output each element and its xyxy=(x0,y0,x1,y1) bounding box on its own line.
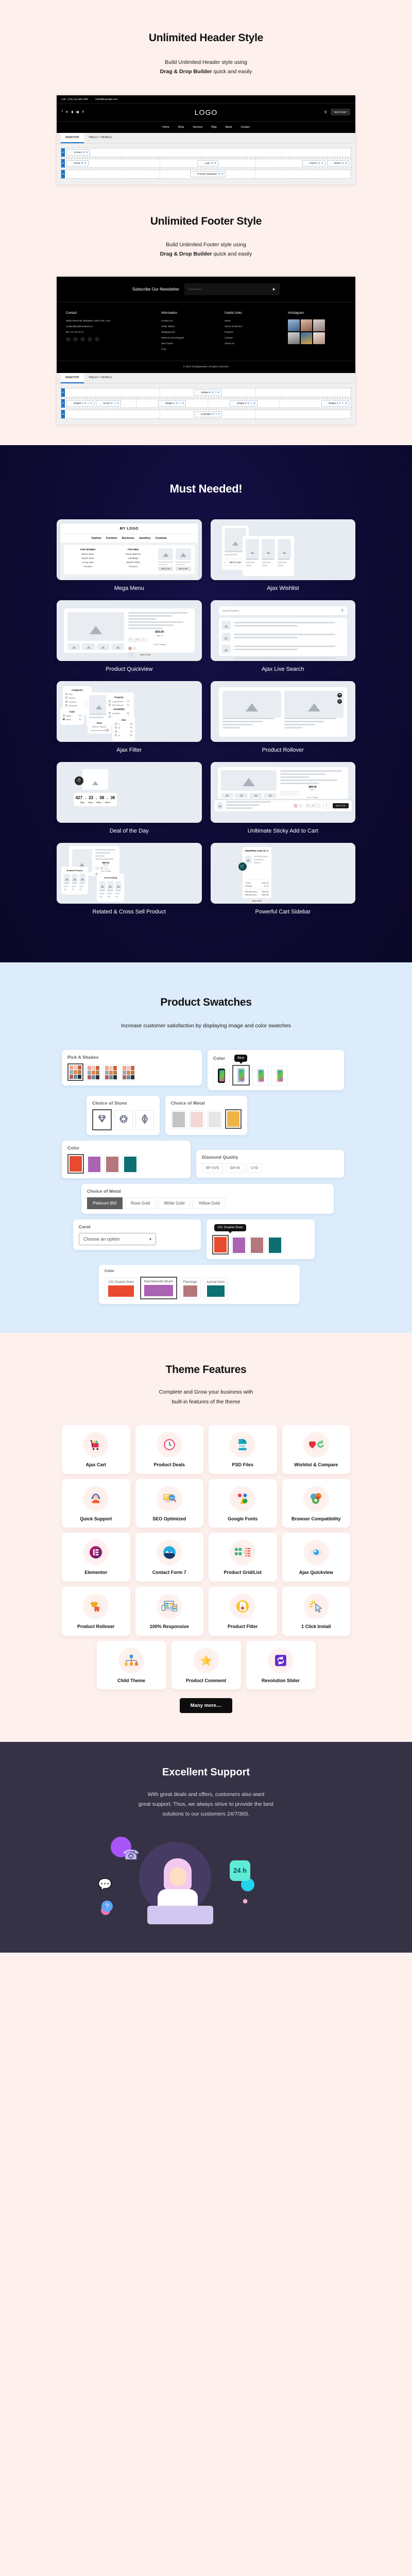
carat-select[interactable]: Choose an option ▾ xyxy=(79,1233,156,1245)
nav-item[interactable]: Services xyxy=(193,126,202,129)
filter-option[interactable]: L(2) xyxy=(115,731,132,733)
mega-nav-item[interactable]: Electronic xyxy=(122,537,134,540)
nav-item[interactable]: Home xyxy=(162,126,169,129)
mega-col-item[interactable]: Handbags xyxy=(113,557,153,560)
checkbox-icon[interactable] xyxy=(109,716,111,718)
metal-swatch[interactable] xyxy=(189,1110,204,1129)
search-input[interactable]: Search Products...⚲ xyxy=(219,606,348,615)
builder-cell[interactable] xyxy=(65,388,160,397)
must-needed-label: Product Rollover xyxy=(211,747,356,753)
close-icon[interactable]: ✕ xyxy=(253,402,255,405)
builder-cell[interactable] xyxy=(65,410,160,418)
checkbox-icon[interactable] xyxy=(63,715,65,717)
checkbox-icon[interactable] xyxy=(65,704,67,706)
header-builder-tabs[interactable]: DESKTOP TABLET / MOBILE xyxy=(57,133,355,144)
size-option[interactable]: M xyxy=(100,867,105,870)
size-option[interactable]: L xyxy=(316,804,320,808)
named-color-swatch[interactable]: 101 Scarlet Siren xyxy=(105,1278,138,1299)
stone-swatch-diamond[interactable] xyxy=(92,1109,112,1130)
theme-feature-card[interactable]: Ajax Quickview xyxy=(282,1533,351,1582)
nav-item[interactable]: Shop xyxy=(178,126,184,129)
footer-col-item[interactable]: Projects xyxy=(225,331,283,333)
footer-col-item[interactable]: Size Guide xyxy=(161,342,219,345)
mega-col-item[interactable]: Shirts/T-shirts xyxy=(113,561,153,564)
row-settings-handle[interactable]: ⚙ xyxy=(61,159,65,167)
builder-cell[interactable]: ⋮⋮Social⚙✕ xyxy=(65,159,160,167)
filter-option[interactable]: Women(5) xyxy=(65,697,89,699)
footer-col-item[interactable]: Returns & Exchanges xyxy=(161,336,219,339)
thumb[interactable] xyxy=(111,643,124,650)
drag-handle-icon[interactable]: ⋮⋮ xyxy=(98,402,102,405)
size-option[interactable]: S xyxy=(95,867,99,870)
gear-icon[interactable]: ⚙ xyxy=(211,162,213,165)
filter-option[interactable]: Electronic(16) xyxy=(65,704,89,707)
theme-feature-card[interactable]: Elementor xyxy=(62,1533,130,1582)
tooltip-color-swatch[interactable] xyxy=(267,1236,283,1255)
theme-feature-card[interactable]: PSDPSD Files xyxy=(209,1425,277,1474)
tooltip-color-swatch[interactable] xyxy=(249,1236,265,1255)
filter-option[interactable]: Men(1) xyxy=(65,693,89,696)
duplicate-icon[interactable]: ☐ xyxy=(87,402,89,405)
builder-cell[interactable]: ⋮⋮Copyright⚙☐✕ xyxy=(160,410,255,418)
close-icon[interactable]: X xyxy=(267,850,269,852)
diamond-quality-option[interactable]: EF-VVS xyxy=(202,1163,223,1173)
gear-icon[interactable]: ⚙ xyxy=(339,402,341,405)
choice-stone-options[interactable] xyxy=(92,1109,154,1130)
builder-chip[interactable]: ⋮⋮Search⚙✕ xyxy=(302,160,325,166)
size-option[interactable]: S xyxy=(280,791,285,795)
checkbox-icon[interactable] xyxy=(65,697,67,699)
close-icon[interactable]: ✕ xyxy=(321,162,323,165)
builder-cell[interactable] xyxy=(256,410,351,418)
sticky-add-to-cart-bar[interactable]: SML1Add To Cart xyxy=(214,800,352,811)
builder-chip[interactable]: ⋮⋮Button⚙✕ xyxy=(327,160,349,166)
builder-cell[interactable]: ⋮⋮Contact⚙✕ xyxy=(65,148,351,157)
instagram-photo[interactable] xyxy=(313,319,325,331)
shade-swatch[interactable] xyxy=(121,1064,136,1081)
footer-col-item[interactable]: Contact us xyxy=(161,319,219,322)
phone-swatch[interactable] xyxy=(271,1066,288,1086)
duplicate-icon[interactable]: ☐ xyxy=(179,402,181,405)
row-settings-handle[interactable]: ⚙ xyxy=(61,399,65,408)
metal-pill-option[interactable]: White Gold xyxy=(159,1197,191,1209)
placeholder-line xyxy=(64,889,66,890)
footer-builder-mock: Subscribe Our Newsletter Enter Email....… xyxy=(57,277,355,425)
clock-icon xyxy=(157,1432,182,1458)
need-help-button[interactable]: Need Help? xyxy=(331,109,350,115)
mega-add-to-cart[interactable]: Add To Cart xyxy=(158,567,173,571)
color-swatch[interactable] xyxy=(105,1155,120,1174)
drag-handle-icon[interactable]: ⋮⋮ xyxy=(192,173,196,176)
gear-icon[interactable]: ⚙ xyxy=(218,173,220,176)
quickview-icon[interactable]: ◎ xyxy=(337,699,342,704)
filter-option[interactable]: S(2) xyxy=(115,723,132,725)
quickview-price: $59.00 xyxy=(128,631,191,634)
must-needed-item: ⏱427.23.58.36DayHourMinuSecoDeal of the … xyxy=(57,762,202,834)
tooltip-swatch-options[interactable] xyxy=(212,1235,309,1255)
gear-icon[interactable]: ⚙ xyxy=(111,402,113,405)
builder-chip[interactable]: ⋮⋮Primary Navigation⚙✕ xyxy=(190,171,226,177)
pick-shades-options[interactable] xyxy=(67,1063,196,1081)
gear-icon[interactable]: ⚙ xyxy=(176,402,178,405)
pick-shades-heading: Pick A Shades xyxy=(67,1055,196,1060)
contact-form-7-icon xyxy=(157,1539,182,1565)
close-icon[interactable]: ✕ xyxy=(218,413,220,416)
instagram-photo[interactable] xyxy=(288,319,300,331)
close-icon[interactable]: ✕ xyxy=(221,173,224,176)
builder-chip[interactable]: ⋮⋮Contact⚙✕ xyxy=(66,149,90,156)
color-phone-options[interactable] xyxy=(213,1065,338,1086)
builder-chip[interactable]: ⋮⋮Widget 2⚙☐✕ xyxy=(158,400,186,406)
builder-chip[interactable]: ⋮⋮Social⚙☐✕ xyxy=(96,400,121,406)
metal-swatch[interactable] xyxy=(171,1110,186,1129)
twitter-icon[interactable] xyxy=(80,337,85,342)
close-icon[interactable]: ✕ xyxy=(218,391,220,394)
drag-handle-icon[interactable]: ⋮⋮ xyxy=(232,402,236,405)
headset-agent-icon xyxy=(83,1486,109,1512)
duplicate-icon[interactable]: ☐ xyxy=(215,391,217,394)
mega-col-item[interactable]: Loung wear xyxy=(67,561,108,564)
builder-chip[interactable]: ⋮⋮Logo⚙✕ xyxy=(197,160,218,166)
builder-cell[interactable]: ⋮⋮Logo⚙✕ xyxy=(160,159,255,167)
filter-option[interactable]: XL(2) xyxy=(115,734,132,737)
size-option[interactable]: L xyxy=(293,791,298,795)
linkedin-icon[interactable] xyxy=(95,337,99,342)
tab-tablet-mobile[interactable]: TABLET / MOBILE xyxy=(84,133,117,143)
mega-nav-item[interactable]: Furniture xyxy=(106,537,117,540)
search-result-row[interactable] xyxy=(222,645,345,653)
footer-col-item[interactable]: Shipping Info xyxy=(161,331,219,333)
metal-pill-option[interactable]: Yellow Gold xyxy=(193,1197,226,1209)
builder-row: ⚙⋮⋮Social⚙✕⋮⋮Logo⚙✕⋮⋮Search⚙✕⋮⋮Button⚙✕ xyxy=(61,159,351,168)
color-swatch[interactable] xyxy=(87,1155,102,1174)
footer-social-icons[interactable] xyxy=(66,337,156,342)
price-slider[interactable] xyxy=(90,730,109,731)
revolution-slider-icon xyxy=(268,1648,294,1673)
filter-option[interactable]: Long sleeves(1) xyxy=(109,700,129,703)
builder-chip-label: Primary Navigation xyxy=(197,173,217,175)
thumb[interactable] xyxy=(67,643,80,650)
diamond-quality-option[interactable]: IJ-SI xyxy=(247,1163,262,1173)
placeholder-line xyxy=(128,612,187,614)
close-icon[interactable]: ✕ xyxy=(345,402,347,405)
builder-cell[interactable] xyxy=(256,170,351,178)
grid-list-icon: + xyxy=(230,1539,255,1565)
thumb[interactable] xyxy=(97,643,110,650)
footer-builder-tabs[interactable]: DESKTOP TABLET / MOBILE xyxy=(57,373,355,384)
search-result-row[interactable] xyxy=(222,633,345,641)
stone-swatch-octagon[interactable] xyxy=(114,1110,133,1130)
checkbox-icon[interactable] xyxy=(65,693,67,695)
choice-metal-sq-options[interactable] xyxy=(171,1109,242,1129)
placeholder-line xyxy=(72,883,77,884)
metal-pill-option[interactable]: Platinum 950 xyxy=(87,1197,123,1209)
checkbox-icon[interactable] xyxy=(109,704,111,706)
instagram-photo[interactable] xyxy=(288,332,300,344)
search-result-row[interactable] xyxy=(222,621,345,630)
header-social-icons[interactable]: f ➤ ▮ ▣ p xyxy=(62,110,144,114)
drag-handle-icon[interactable]: ⋮⋮ xyxy=(329,162,333,165)
theme-feature-card[interactable]: SEOSEO Optimized xyxy=(135,1479,204,1528)
filter-option[interactable]: White(1) xyxy=(63,715,81,717)
size-option[interactable]: L xyxy=(105,867,109,870)
theme-feature-card[interactable]: +Wishlist & Compare xyxy=(282,1425,351,1474)
duplicate-icon[interactable]: ☐ xyxy=(342,402,344,405)
seconds-value: 36 xyxy=(110,795,115,800)
close-icon[interactable]: ✕ xyxy=(86,151,88,154)
devices-icon xyxy=(157,1594,182,1619)
many-more-button[interactable]: Many more.... xyxy=(180,1698,233,1713)
filter-option[interactable]: Available(2) xyxy=(109,712,129,715)
size-option[interactable]: M xyxy=(135,638,141,642)
footer-col-item[interactable]: About Us xyxy=(225,342,283,345)
builder-cell[interactable] xyxy=(65,170,160,178)
phone-swatch[interactable] xyxy=(213,1066,230,1086)
cart-icon[interactable]: 🛒 xyxy=(238,862,247,871)
mega-nav-item[interactable]: Cosmetic xyxy=(155,537,167,540)
color-swatch[interactable] xyxy=(67,1154,84,1174)
color-sq-options[interactable] xyxy=(67,1154,185,1174)
drag-handle-icon[interactable]: ⋮⋮ xyxy=(196,391,200,394)
gear-icon[interactable]: ⚙ xyxy=(342,162,344,165)
tab-desktop[interactable]: DESKTOP xyxy=(61,133,84,143)
instagram-icon[interactable] xyxy=(73,337,78,342)
drag-handle-icon[interactable]: ⋮⋮ xyxy=(68,402,73,405)
filter-option[interactable]: Black(1) xyxy=(63,718,81,721)
mega-nav[interactable]: FashionFurnitureElectronicJewelleryCosme… xyxy=(60,534,198,543)
mega-nav-item[interactable]: Fashion xyxy=(92,537,101,540)
drag-handle-icon[interactable]: ⋮⋮ xyxy=(199,162,203,165)
filter-option[interactable]: M(2) xyxy=(115,726,132,729)
drag-handle-icon[interactable]: ⋮⋮ xyxy=(196,413,200,416)
must-needed-label: Deal of the Day xyxy=(57,828,202,834)
footer-col-item[interactable]: FAQ xyxy=(161,348,219,350)
placeholder-line xyxy=(72,886,76,887)
phone-icon: ☎ xyxy=(123,1847,139,1863)
tf-sub-line1: Complete and Grow your business with xyxy=(0,1387,412,1397)
choice-metal-pill-options[interactable]: Platinum 950Rose GoldWhite GoldYellow Go… xyxy=(87,1197,328,1209)
theme-feature-card[interactable]: Quick Support xyxy=(62,1479,130,1528)
metal-pill-option[interactable]: Rose Gold xyxy=(125,1197,156,1209)
size-option[interactable]: S xyxy=(128,638,133,642)
row-settings-handle[interactable]: ⚙ xyxy=(61,388,65,397)
gear-icon[interactable]: ⚙ xyxy=(247,402,249,405)
facebook-icon[interactable]: f xyxy=(62,110,63,114)
phone-swatch[interactable] xyxy=(252,1066,269,1086)
theme-feature-card[interactable]: Product Comment xyxy=(171,1641,241,1690)
footer-col-item[interactable]: License xyxy=(225,336,283,339)
theme-feature-card[interactable]: 100% Responsive xyxy=(135,1587,204,1636)
theme-feature-card[interactable]: Contact Form 7 xyxy=(135,1533,204,1582)
instagram-photo[interactable] xyxy=(301,332,313,344)
builder-chip[interactable]: ⋮⋮Widget 3⚙☐✕ xyxy=(230,400,257,406)
checkbox-icon[interactable] xyxy=(109,700,111,702)
checkbox-icon[interactable] xyxy=(115,734,117,736)
shade-swatch[interactable] xyxy=(86,1064,101,1081)
diamond-quality-option[interactable]: GH-SI xyxy=(226,1163,244,1173)
google-plus-icon[interactable] xyxy=(88,337,92,342)
twitter-icon[interactable]: ➤ xyxy=(66,110,68,114)
gear-icon[interactable]: ⚙ xyxy=(83,151,85,154)
close-icon[interactable]: ✕ xyxy=(117,402,119,405)
theme-feature-card[interactable]: Browser Compatibility xyxy=(282,1479,351,1528)
nav-item[interactable]: Blog xyxy=(211,126,216,129)
shade-swatch[interactable] xyxy=(104,1064,118,1081)
gear-icon[interactable]: ⚙ xyxy=(81,162,83,165)
filter-option[interactable]: Furniture(10) xyxy=(65,701,89,703)
tooltip-color-swatch[interactable] xyxy=(212,1235,229,1255)
row-settings-handle[interactable]: ⚙ xyxy=(61,148,65,157)
nav-item[interactable]: Contact xyxy=(241,126,250,129)
placeholder-line xyxy=(95,858,113,860)
theme-feature-card[interactable]: Product Deals xyxy=(135,1425,204,1474)
checkbox-icon[interactable] xyxy=(109,712,111,714)
tab-tablet-mobile[interactable]: TABLET / MOBILE xyxy=(84,373,117,383)
footer-col-item[interactable]: Order Status xyxy=(161,325,219,328)
theme-feature-label: Ajax Quickview xyxy=(299,1570,333,1576)
mega-col-item[interactable]: Sports Wear xyxy=(67,557,108,560)
add-to-cart-button[interactable]: Add To Cart xyxy=(136,652,154,657)
mega-col-item[interactable]: Trousers xyxy=(113,565,153,568)
gear-icon[interactable]: ⚙ xyxy=(84,402,86,405)
gear-icon[interactable]: ⚙ xyxy=(318,162,320,165)
metal-swatch[interactable] xyxy=(207,1110,222,1129)
mega-col-item[interactable]: Trousers xyxy=(67,565,108,568)
size-option[interactable]: L xyxy=(142,638,147,642)
mega-col-item[interactable]: Ethnic Wear xyxy=(67,553,108,555)
builder-chip[interactable]: ⋮⋮Widget 1⚙☐✕ xyxy=(66,400,94,406)
row-settings-handle[interactable]: ⚙ xyxy=(61,170,65,178)
related-color-label: Color: Orange xyxy=(95,870,116,872)
builder-chip[interactable]: ⋮⋮Widget 5⚙☐✕ xyxy=(194,389,221,396)
builder-chip-label: Contact xyxy=(74,151,82,154)
checkbox-icon[interactable] xyxy=(65,701,67,703)
seo-monitor-icon: SEO xyxy=(157,1486,182,1512)
duplicate-icon[interactable]: ☐ xyxy=(250,402,252,405)
instagram-photo[interactable] xyxy=(313,332,325,344)
quantity-stepper[interactable]: 1 xyxy=(323,803,330,808)
search-result-row[interactable] xyxy=(222,656,345,661)
builder-chip[interactable]: ⋮⋮Social⚙✕ xyxy=(66,160,89,166)
theme-feature-card[interactable]: Product Rollover xyxy=(62,1587,130,1636)
named-color-swatch[interactable]: Flamingo xyxy=(180,1278,201,1299)
placeholder-line xyxy=(262,562,271,563)
named-color-swatch[interactable]: Bachellorette Blush xyxy=(140,1277,177,1299)
pinterest-icon[interactable]: p xyxy=(82,110,84,114)
footer-column-useful-links: Useful Links News Terms of Service Proje… xyxy=(225,311,283,353)
drag-handle-icon[interactable]: ⋮⋮ xyxy=(323,402,328,405)
builder-cell[interactable]: ⋮⋮Widget 1⚙☐✕⋮⋮Social⚙☐✕ xyxy=(65,399,136,408)
checkbox-icon[interactable] xyxy=(63,718,65,720)
color-swatch[interactable] xyxy=(123,1155,138,1174)
footer-col-item[interactable]: Terms of Service xyxy=(225,325,283,328)
size-option[interactable]: M xyxy=(311,804,316,808)
builder-cell[interactable]: ⋮⋮Widget 3⚙☐✕ xyxy=(208,399,280,408)
thumb[interactable] xyxy=(82,643,95,650)
gear-icon[interactable]: ⚙ xyxy=(212,413,214,416)
theme-feature-card[interactable]: +Product Grid/List xyxy=(209,1533,277,1582)
wishlist-icon[interactable]: ❤ xyxy=(337,693,342,698)
instagram-photo[interactable] xyxy=(301,319,313,331)
close-icon[interactable]: ✕ xyxy=(182,402,184,405)
quantity-stepper[interactable]: 1 xyxy=(128,652,134,657)
drag-handle-icon[interactable]: ⋮⋮ xyxy=(304,162,308,165)
filter-group-head: Availability xyxy=(109,708,129,710)
builder-cell[interactable]: ⋮⋮Widget 2⚙☐✕ xyxy=(136,399,208,408)
duplicate-icon[interactable]: ☐ xyxy=(215,413,217,416)
close-icon[interactable]: ✕ xyxy=(345,162,347,165)
drag-handle-icon[interactable]: ⋮⋮ xyxy=(68,162,73,165)
sitemap-icon xyxy=(118,1648,144,1673)
builder-cell[interactable] xyxy=(256,388,351,397)
metal-swatch[interactable] xyxy=(225,1109,242,1129)
youtube-icon[interactable]: ▮ xyxy=(72,110,73,114)
theme-feature-card[interactable]: Child Theme xyxy=(97,1641,166,1690)
close-icon[interactable]: ✕ xyxy=(90,402,92,405)
close-icon[interactable]: ✕ xyxy=(214,162,216,165)
builder-chip[interactable]: ⋮⋮Copyright⚙☐✕ xyxy=(194,411,222,417)
drag-handle-icon[interactable]: ⋮⋮ xyxy=(68,151,73,154)
builder-cell[interactable]: ⋮⋮Primary Navigation⚙✕ xyxy=(160,170,255,178)
size-option[interactable]: M xyxy=(286,791,292,795)
diamond-quality-options[interactable]: EF-VVSGH-SIIJ-SI xyxy=(202,1163,338,1173)
mega-nav-item[interactable]: Jewellery xyxy=(139,537,151,540)
color-dot[interactable] xyxy=(128,647,132,650)
theme-feature-card[interactable]: Ajax Cart xyxy=(62,1425,130,1474)
instagram-icon[interactable]: ▣ xyxy=(76,110,79,114)
facebook-icon[interactable] xyxy=(66,337,71,342)
builder-cell[interactable]: ⋮⋮Widget 5⚙☐✕ xyxy=(160,388,255,397)
tab-desktop[interactable]: DESKTOP xyxy=(61,373,84,383)
duplicate-icon[interactable]: ☐ xyxy=(114,402,116,405)
mega-add-to-cart[interactable]: Add To Cart xyxy=(176,567,191,571)
add-to-cart-button[interactable]: Add To Cart xyxy=(333,803,349,808)
phone-swatch[interactable] xyxy=(232,1065,250,1086)
newsletter-input[interactable]: Enter Email.... ➤ xyxy=(184,283,280,295)
named-color-swatch[interactable]: Lyrical Gem xyxy=(203,1278,228,1299)
view-cart-button[interactable]: VIEW CART xyxy=(245,898,269,904)
checkbox-icon[interactable] xyxy=(115,723,117,725)
gear-icon[interactable]: ⚙ xyxy=(212,391,214,394)
builder-chip[interactable]: ⋮⋮Widget 4⚙☐✕ xyxy=(321,400,349,406)
builder-cell[interactable]: ⋮⋮Widget 4⚙☐✕ xyxy=(280,399,351,408)
checkbox-icon[interactable] xyxy=(115,731,117,733)
footer-col-item[interactable]: News xyxy=(225,319,283,322)
theme-feature-card[interactable]: Product Filter xyxy=(209,1587,277,1636)
theme-feature-card[interactable]: 1 Click Install xyxy=(282,1587,351,1636)
send-icon[interactable]: ➤ xyxy=(272,287,276,292)
tooltip-color-swatch[interactable] xyxy=(231,1236,247,1255)
mega-col-item[interactable]: Smart Watches xyxy=(113,553,153,555)
checkbox-icon[interactable] xyxy=(115,726,117,728)
color-dot[interactable] xyxy=(133,647,136,650)
close-icon[interactable]: ✕ xyxy=(84,162,87,165)
search-icon[interactable]: ⚲ xyxy=(324,110,327,114)
search-icon[interactable]: ⚲ xyxy=(341,609,344,613)
named-color-options[interactable]: 101 Scarlet SirenBachellorette BlushFlam… xyxy=(105,1277,294,1299)
row-settings-handle[interactable]: ⚙ xyxy=(61,410,65,418)
size-option[interactable]: S xyxy=(306,804,310,808)
theme-feature-card[interactable]: Google Fonts xyxy=(209,1479,277,1528)
theme-feature-card[interactable]: Revolution Slider xyxy=(246,1641,316,1690)
shade-swatch[interactable] xyxy=(67,1063,83,1081)
builder-cell[interactable]: ⋮⋮Search⚙✕⋮⋮Button⚙✕ xyxy=(256,159,351,167)
drag-handle-icon[interactable]: ⋮⋮ xyxy=(160,402,164,405)
header-primary-nav[interactable]: Home Shop Services Blog About Contact xyxy=(57,122,355,133)
stone-swatch-marquise[interactable] xyxy=(135,1110,154,1130)
filter-option[interactable]: Short sleeves(1) xyxy=(109,704,129,706)
nav-item[interactable]: About xyxy=(225,126,232,129)
